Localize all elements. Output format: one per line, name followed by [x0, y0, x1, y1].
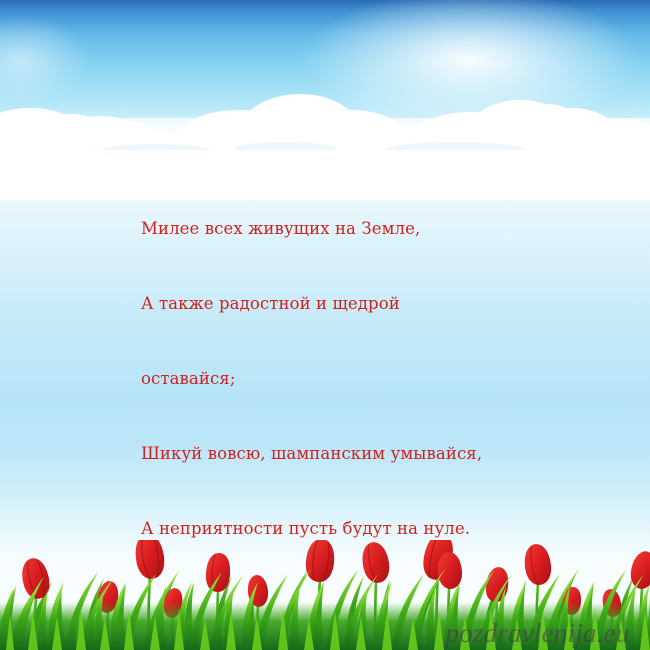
poem-line-2: А также радостной и щедрой — [141, 291, 571, 316]
poem-line-1: Милее всех живущих на Земле, — [141, 216, 571, 241]
greeting-card: Милее всех живущих на Земле, А также рад… — [0, 0, 650, 650]
poem-line-5: А неприятности пусть будут на нуле. — [141, 516, 571, 541]
site-watermark: pozdravlenija.eu — [425, 618, 650, 648]
poem-text: Милее всех живущих на Земле, А также рад… — [141, 166, 571, 591]
poem-line-3: оставайся; — [141, 366, 571, 391]
left-glow — [0, 15, 90, 105]
poem-line-4: Шикуй вовсю, шампанским умывайся, — [141, 441, 571, 466]
